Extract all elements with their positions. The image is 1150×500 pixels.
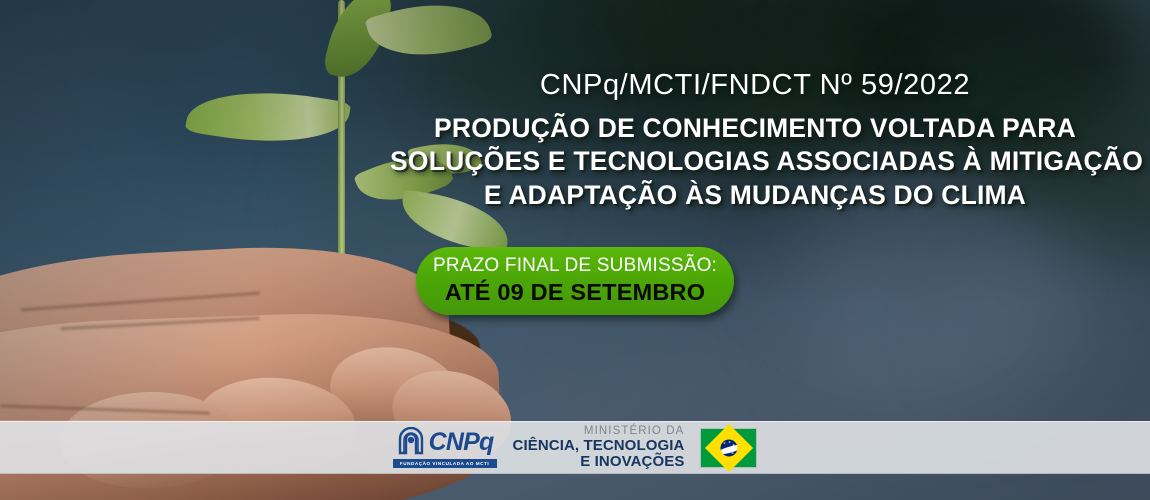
brazil-flag-icon bbox=[700, 428, 757, 468]
campaign-banner: CNPq/MCTI/FNDCT Nº 59/2022 PRODUÇÃO DE C… bbox=[0, 0, 1150, 500]
title-line-1: PRODUÇÃO DE CONHECIMENTO VOLTADA PARA bbox=[390, 112, 1120, 145]
cnpq-logo-row: CNPq bbox=[396, 427, 494, 457]
call-number: CNPq/MCTI/FNDCT Nº 59/2022 bbox=[390, 70, 1120, 102]
deadline-date: ATÉ 09 DE SETEMBRO bbox=[445, 278, 705, 306]
title-line-3: E ADAPTAÇÃO ÀS MUDANÇAS DO CLIMA bbox=[390, 179, 1120, 212]
ministry-line-1: CIÊNCIA, TECNOLOGIA bbox=[513, 438, 685, 454]
footer-logo-bar: CNPq FUNDAÇÃO VINCULADA AO MCTI MINISTÉR… bbox=[0, 421, 1150, 474]
ministry-line-top: MINISTÉRIO DA bbox=[513, 425, 685, 437]
headline-block: CNPq/MCTI/FNDCT Nº 59/2022 PRODUÇÃO DE C… bbox=[390, 70, 1120, 212]
submission-deadline-button[interactable]: PRAZO FINAL DE SUBMISSÃO: ATÉ 09 DE SETE… bbox=[416, 247, 734, 315]
deadline-label: PRAZO FINAL DE SUBMISSÃO: bbox=[433, 255, 717, 277]
ministry-line-2: E INOVAÇÕES bbox=[513, 454, 685, 470]
cnpq-logo[interactable]: CNPq FUNDAÇÃO VINCULADA AO MCTI bbox=[393, 427, 497, 467]
cnpq-tagline: FUNDAÇÃO VINCULADA AO MCTI bbox=[393, 459, 497, 467]
page-title: PRODUÇÃO DE CONHECIMENTO VOLTADA PARA SO… bbox=[390, 112, 1120, 212]
cnpq-wordmark: CNPq bbox=[429, 430, 494, 455]
cta-container: PRAZO FINAL DE SUBMISSÃO: ATÉ 09 DE SETE… bbox=[0, 247, 1150, 315]
title-line-2: SOLUÇÕES E TECNOLOGIAS ASSOCIADAS À MITI… bbox=[390, 145, 1120, 178]
cnpq-emblem-icon bbox=[396, 427, 426, 457]
flag-globe bbox=[720, 439, 737, 456]
ministry-logo: MINISTÉRIO DA CIÊNCIA, TECNOLOGIA E INOV… bbox=[513, 425, 685, 470]
footer-logos: CNPq FUNDAÇÃO VINCULADA AO MCTI MINISTÉR… bbox=[393, 425, 758, 470]
